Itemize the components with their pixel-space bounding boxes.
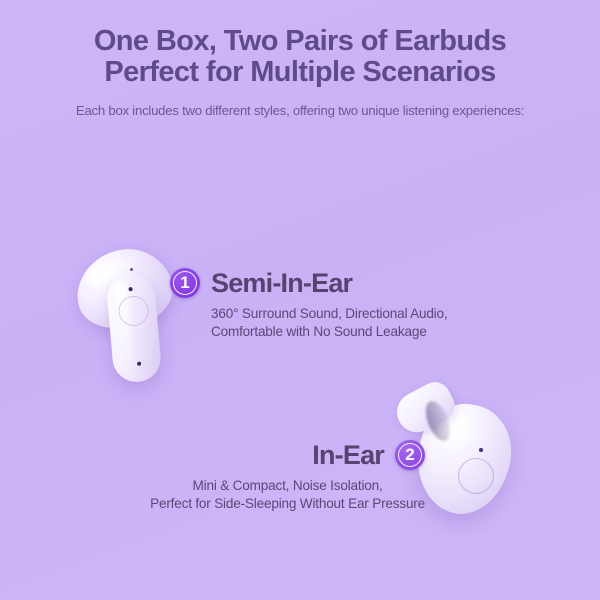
- earbud-head-mic-dot: [130, 268, 133, 271]
- feature-number-label: 2: [395, 440, 425, 470]
- feature-number-badge-1: 1: [170, 268, 200, 298]
- poster-header: One Box, Two Pairs of Earbuds Perfect fo…: [0, 26, 600, 119]
- feature-title-row: 1 Semi-In-Ear: [170, 268, 447, 298]
- feature-title-row: In-Ear 2: [150, 440, 425, 470]
- feature-description-line-1: 360° Surround Sound, Directional Audio,: [211, 305, 447, 323]
- headline-line-1: One Box, Two Pairs of Earbuds: [0, 26, 600, 57]
- feature-title-in-ear: In-Ear: [312, 440, 384, 470]
- headline-line-2: Perfect for Multiple Scenarios: [0, 57, 600, 88]
- feature-description-in-ear: Mini & Compact, Noise Isolation, Perfect…: [150, 477, 425, 513]
- poster-subtitle: Each box includes two different styles, …: [0, 102, 600, 119]
- earbud-control-ring: [458, 458, 494, 494]
- feature-description-semi-in-ear: 360° Surround Sound, Directional Audio, …: [170, 305, 447, 341]
- feature-description-line-1: Mini & Compact, Noise Isolation,: [150, 477, 425, 495]
- product-feature-poster: One Box, Two Pairs of Earbuds Perfect fo…: [0, 0, 600, 600]
- feature-description-line-2: Perfect for Side-Sleeping Without Ear Pr…: [150, 495, 425, 513]
- feature-title-semi-in-ear: Semi-In-Ear: [211, 268, 352, 298]
- earbud-touch-control-circle: [117, 295, 150, 328]
- feature-number-label: 1: [170, 268, 200, 298]
- feature-block-semi-in-ear: 1 Semi-In-Ear 360° Surround Sound, Direc…: [170, 268, 447, 341]
- earbud-mic-dot: [479, 448, 483, 452]
- feature-number-badge-2: 2: [395, 440, 425, 470]
- feature-block-in-ear: In-Ear 2 Mini & Compact, Noise Isolation…: [150, 440, 425, 513]
- earbud-upper-mic-dot: [128, 287, 132, 291]
- page-title: One Box, Two Pairs of Earbuds Perfect fo…: [0, 26, 600, 88]
- earbud-lower-mic-dot: [137, 362, 141, 366]
- feature-description-line-2: Comfortable with No Sound Leakage: [211, 323, 447, 341]
